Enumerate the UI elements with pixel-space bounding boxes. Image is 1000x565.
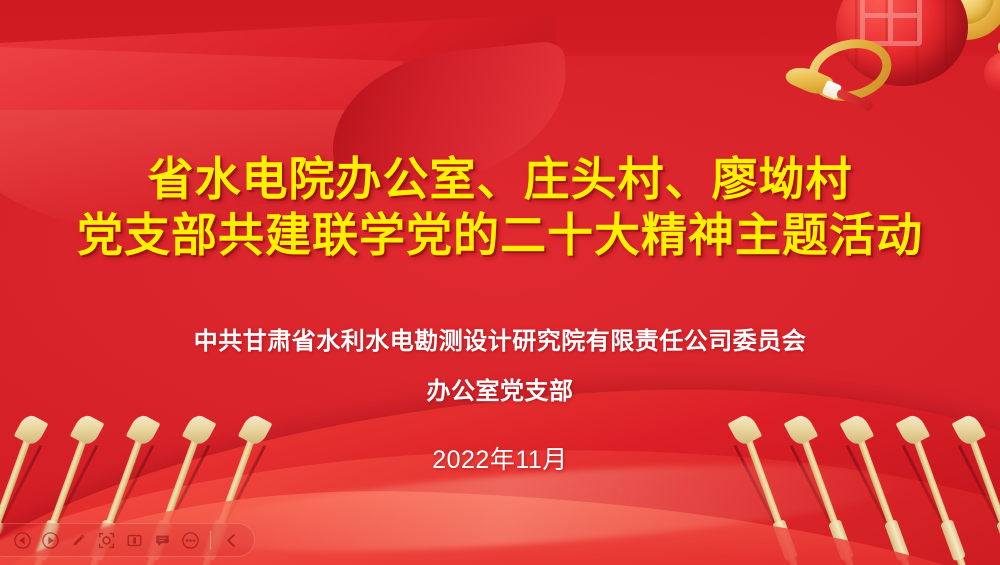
slide-date: 2022年11月 [432, 440, 568, 476]
title-line-1: 省水电院办公室、庄头村、廖坳村 [0, 152, 1000, 208]
chevron-left-icon [223, 532, 240, 549]
organization-line-2: 办公室党支部 [0, 380, 1000, 404]
pen-tool-button[interactable] [65, 527, 91, 553]
previous-triangle-icon [14, 532, 31, 549]
toolbar-separator [210, 531, 211, 549]
organization-block: 中共甘肃省水利水电勘测设计研究院有限责任公司委员会 办公室党支部 [0, 330, 1000, 404]
title-line-2: 党支部共建联学党的二十大精神主题活动 [0, 208, 1000, 264]
previous-slide-button[interactable] [9, 527, 35, 553]
comment-bubble-icon [154, 532, 171, 549]
slide-title: 省水电院办公室、庄头村、廖坳村 党支部共建联学党的二十大精神主题活动 [0, 152, 1000, 264]
next-slide-button[interactable] [37, 527, 63, 553]
ellipsis-circle-icon [182, 532, 199, 549]
spotlight-button[interactable] [93, 527, 119, 553]
spotlight-icon [98, 532, 115, 549]
next-triangle-icon [42, 532, 59, 549]
pen-icon [70, 532, 87, 549]
zoom-region-button[interactable] [121, 527, 147, 553]
organization-line-1: 中共甘肃省水利水电勘测设计研究院有限责任公司委员会 [0, 330, 1000, 354]
slide-content: 省水电院办公室、庄头村、廖坳村 党支部共建联学党的二十大精神主题活动 中共甘肃省… [0, 0, 1000, 565]
presenter-toolbar[interactable] [0, 523, 255, 557]
collapse-toolbar-button[interactable] [218, 527, 244, 553]
presentation-slide: 省水电院办公室、庄头村、廖坳村 党支部共建联学党的二十大精神主题活动 中共甘肃省… [0, 0, 1000, 565]
zoom-region-icon [126, 532, 143, 549]
more-options-button[interactable] [177, 527, 203, 553]
comment-button[interactable] [149, 527, 175, 553]
